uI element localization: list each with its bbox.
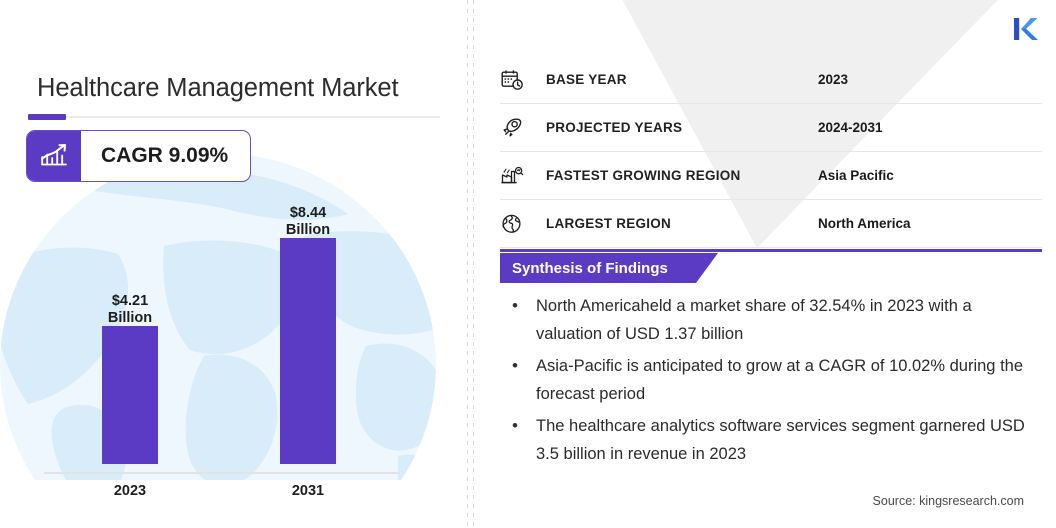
bullet-glyph: • (504, 412, 536, 440)
fact-icon-cell (500, 116, 546, 140)
finding-text-2: Asia-Pacific is anticipated to grow at a… (536, 352, 1038, 408)
finding-text-1: North Americaheld a market share of 32.5… (536, 292, 1038, 348)
bullet-glyph: • (504, 292, 536, 320)
source-attribution: Source: kingsresearch.com (873, 494, 1024, 508)
synthesis-top-rule (500, 249, 1042, 252)
fact-icon-cell (500, 68, 546, 92)
fact-value-fastest-growing-region: Asia Pacific (818, 168, 1042, 183)
table-row: BASE YEAR 2023 (500, 56, 1042, 104)
facts-table: BASE YEAR 2023 PROJECTED YEA (500, 56, 1042, 248)
panel-divider-left (467, 0, 468, 528)
fact-label-base-year: BASE YEAR (546, 72, 818, 87)
table-row: FASTEST GROWING REGION Asia Pacific (500, 152, 1042, 200)
bar-chart: $4.21 Billion 2023 $8.44 Billion 2031 (0, 195, 468, 515)
cagr-icon-container (27, 131, 81, 181)
list-item: • Asia-Pacific is anticipated to grow at… (504, 352, 1038, 408)
chart-axis-line (44, 472, 400, 474)
fact-label-largest-region: LARGEST REGION (546, 216, 818, 231)
cagr-value: CAGR 9.09% (81, 131, 250, 181)
bar-2031 (280, 238, 336, 464)
fact-label-projected-years: PROJECTED YEARS (546, 120, 818, 135)
globe-icon (500, 212, 524, 236)
bar-value-2023: $4.21 Billion (90, 293, 170, 327)
title-divider-accent (28, 114, 66, 120)
synthesis-heading-text: Synthesis of Findings (512, 260, 668, 277)
table-row: LARGEST REGION North America (500, 200, 1042, 248)
title-divider (28, 116, 440, 118)
bar-value-2031: $8.44 Billion (268, 205, 348, 239)
list-item: • The healthcare analytics software serv… (504, 412, 1038, 468)
bar-tick-2031: 2031 (268, 483, 348, 499)
fact-label-fastest-growing-region: FASTEST GROWING REGION (546, 168, 818, 183)
table-row: PROJECTED YEARS 2024-2031 (500, 104, 1042, 152)
right-panel: BASE YEAR 2023 PROJECTED YEA (474, 0, 1056, 528)
fact-value-largest-region: North America (818, 216, 1042, 231)
cagr-badge: CAGR 9.09% (26, 130, 251, 182)
factory-growth-icon (500, 164, 524, 188)
finding-text-3: The healthcare analytics software servic… (536, 412, 1038, 468)
fact-icon-cell (500, 212, 546, 236)
fact-value-base-year: 2023 (818, 72, 1042, 87)
infographic-canvas: Healthcare Management Market (0, 0, 1056, 528)
list-item: • North Americaheld a market share of 32… (504, 292, 1038, 348)
bar-value-amount-2023: $4.21 (112, 293, 148, 309)
bar-value-unit-2023: Billion (108, 310, 152, 326)
bar-2023 (102, 326, 158, 464)
kings-research-logo (1008, 13, 1042, 46)
left-panel: Healthcare Management Market (0, 0, 468, 528)
page-title: Healthcare Management Market (37, 74, 398, 103)
bar-value-unit-2031: Billion (286, 222, 330, 238)
synthesis-heading-banner: Synthesis of Findings (500, 253, 718, 283)
bar-value-amount-2031: $8.44 (290, 205, 326, 221)
fact-icon-cell (500, 164, 546, 188)
bullet-glyph: • (504, 352, 536, 380)
fact-value-projected-years: 2024-2031 (818, 120, 1042, 135)
findings-list: • North Americaheld a market share of 32… (504, 292, 1038, 472)
bar-tick-2023: 2023 (90, 483, 170, 499)
calendar-clock-icon (500, 68, 524, 92)
rocket-icon (500, 116, 524, 140)
bar-chart-growth-icon (39, 142, 69, 170)
